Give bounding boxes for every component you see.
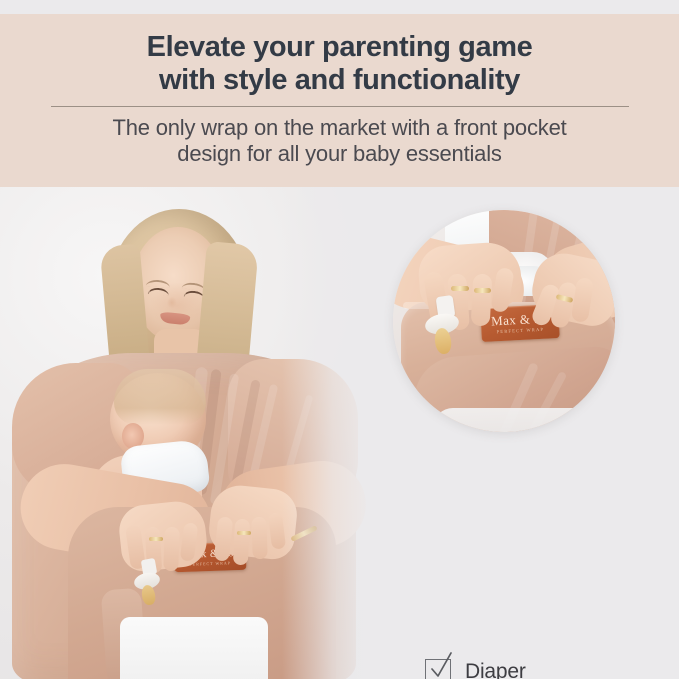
headline-line-1: Elevate your parenting game: [147, 31, 533, 63]
checklist-item-diaper[interactable]: Diaper: [425, 651, 665, 679]
header-divider: [51, 106, 629, 107]
checklist-label: Diaper: [465, 660, 526, 679]
page-subtitle: The only wrap on the market with a front…: [30, 107, 650, 168]
content-stage: Max & So PERFECT WRAP: [0, 187, 679, 679]
finger: [163, 527, 180, 571]
page-title: Elevate your parenting game with style a…: [40, 14, 640, 97]
headline-line-2: with style and functionality: [40, 64, 640, 97]
ring: [474, 288, 491, 293]
subhead-line-2: design for all your baby essentials: [30, 141, 650, 167]
baby-hair: [114, 369, 206, 425]
checkbox-checked-icon[interactable]: [425, 659, 451, 679]
main-lifestyle-photo: Max & So PERFECT WRAP: [0, 187, 374, 679]
ring: [237, 531, 251, 535]
header-band: Elevate your parenting game with style a…: [0, 14, 679, 187]
finger: [251, 517, 267, 559]
subhead-line-1: The only wrap on the market with a front…: [112, 115, 566, 140]
bracelet: [290, 525, 317, 542]
brand-label-sub: PERFECT WRAP: [497, 327, 545, 334]
product-infographic: Elevate your parenting game with style a…: [0, 0, 679, 679]
undershirt-right: [282, 479, 356, 609]
essentials-checklist: Diaper Pacifier Toy: [425, 651, 665, 679]
ring: [149, 537, 163, 541]
ring: [451, 286, 469, 291]
mother-nose: [167, 297, 179, 311]
undershirt-bottom: [120, 617, 268, 679]
finger: [233, 519, 250, 566]
finger: [471, 274, 493, 327]
inset-bottom-garment: [433, 408, 603, 432]
pocket-detail-inset-photo: Max & So PERFECT WRAP: [393, 210, 615, 432]
